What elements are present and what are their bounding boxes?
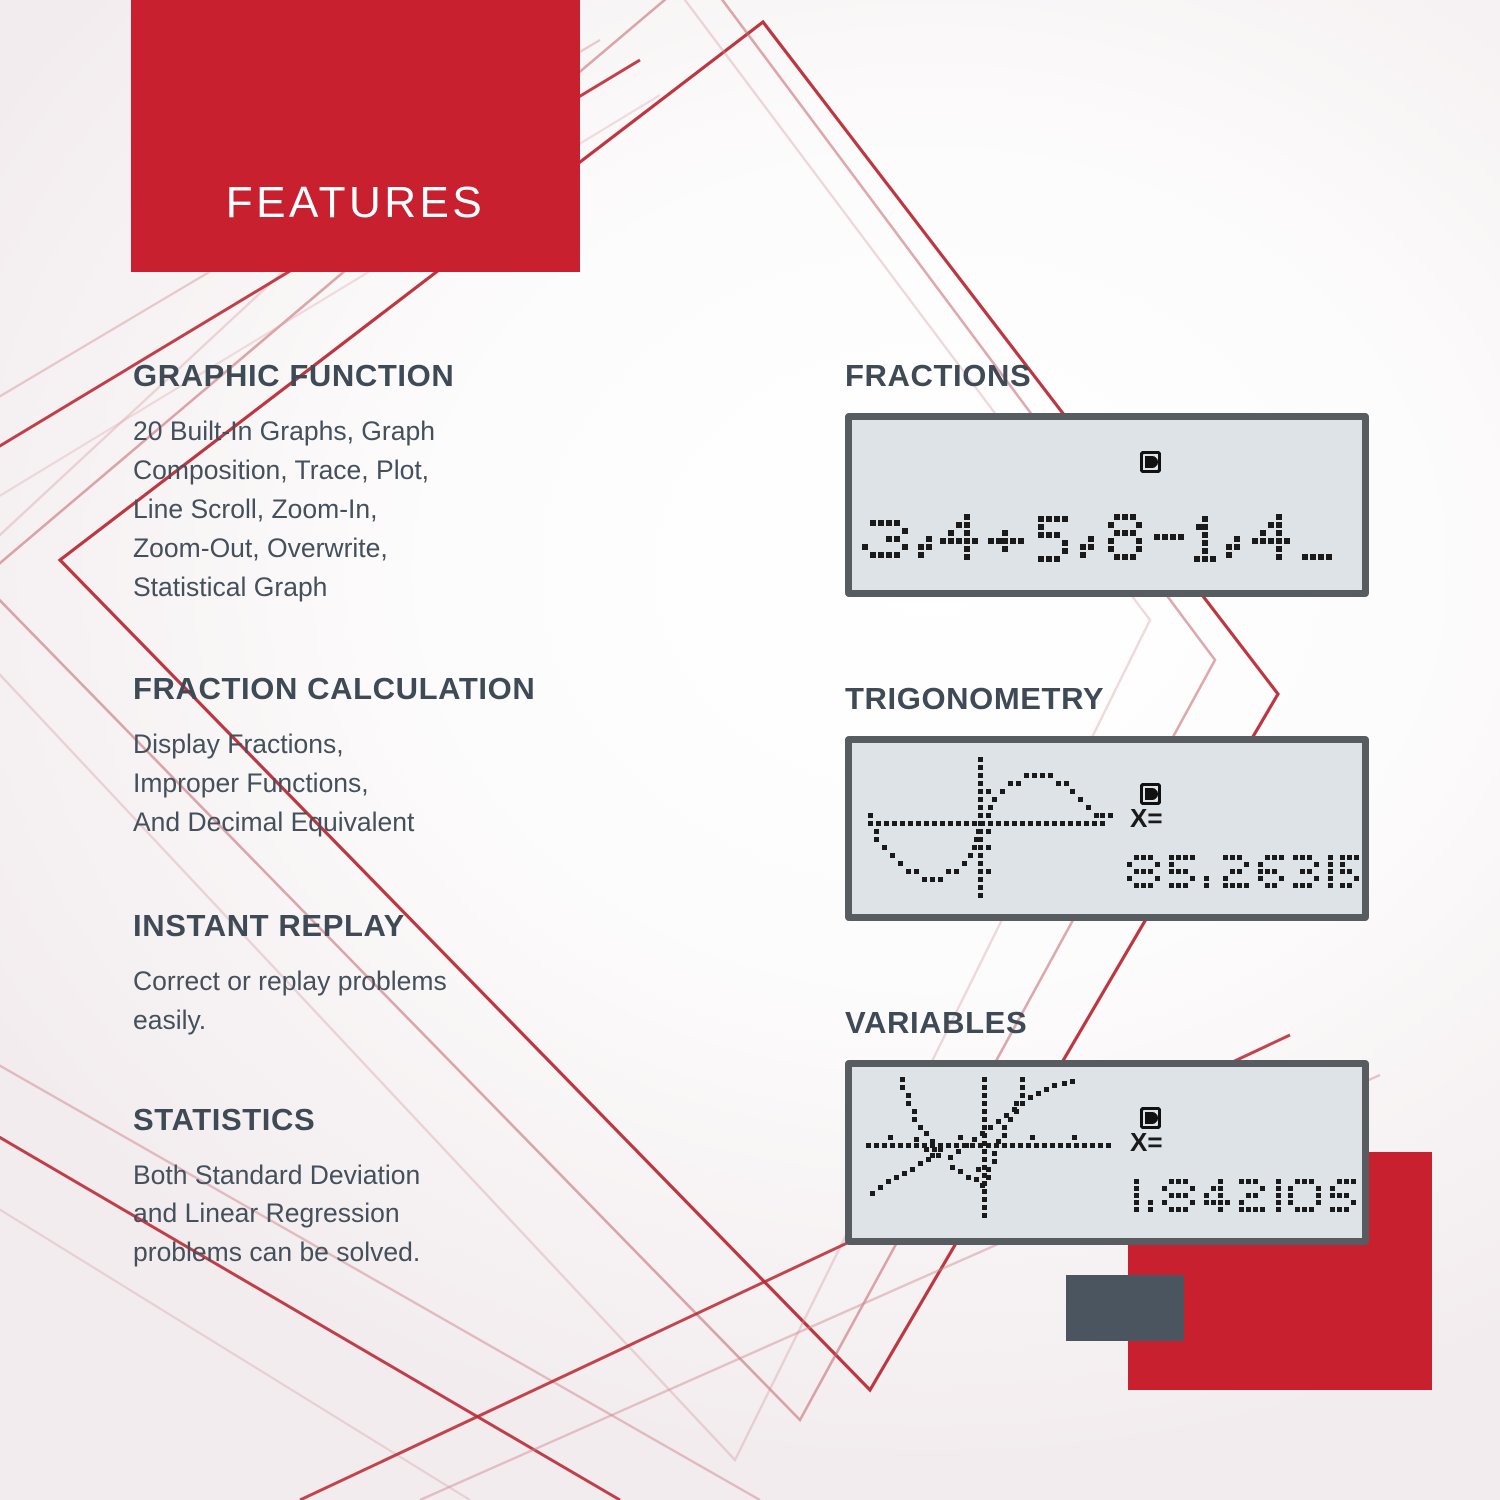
feature-body: Display Fractions, Improper Functions, A…: [133, 725, 733, 842]
features-header-block: FEATURES: [131, 0, 580, 272]
feature-instant-replay: INSTANT REPLAY Correct or replay problem…: [133, 908, 733, 1040]
calculator-screen-fractions: D 3⌀4+5⌀8-1⌀4_: [845, 413, 1369, 597]
deg-mode-indicator: [1140, 451, 1161, 473]
deg-mode-indicator: [1140, 1107, 1161, 1129]
lcd-value-dots: [1127, 855, 1359, 888]
deg-mode-indicator: [1140, 783, 1161, 805]
feature-heading: FRACTION CALCULATION: [133, 671, 733, 707]
feature-heading: INSTANT REPLAY: [133, 908, 733, 944]
lcd-trace-label: X=: [1130, 1127, 1163, 1157]
lcd-value-dots: [1134, 1179, 1356, 1212]
right-feature-column: FRACTIONS: [845, 358, 1375, 1291]
lcd-trace-label: X=: [1130, 803, 1163, 833]
feature-fraction-calculation: FRACTION CALCULATION Display Fractions, …: [133, 671, 733, 842]
feature-heading: TRIGONOMETRY: [845, 681, 1375, 717]
infographic-canvas: FEATURES GRAPHIC FUNCTION 20 Built-In Gr…: [0, 0, 1500, 1500]
feature-fractions: FRACTIONS: [845, 358, 1375, 597]
feature-heading: GRAPHIC FUNCTION: [133, 358, 733, 394]
feature-body: Correct or replay problems easily.: [133, 962, 733, 1040]
feature-trigonometry: TRIGONOMETRY: [845, 681, 1375, 921]
lcd-multiline-graph-dots: [866, 1077, 1111, 1218]
feature-statistics: STATISTICS Both Standard Deviation and L…: [133, 1102, 733, 1273]
page-title: FEATURES: [226, 178, 485, 228]
feature-body: Both Standard Deviation and Linear Regre…: [133, 1156, 733, 1273]
feature-heading: STATISTICS: [133, 1102, 733, 1138]
left-feature-column: GRAPHIC FUNCTION 20 Built-In Graphs, Gra…: [133, 358, 733, 1318]
feature-graphic-function: GRAPHIC FUNCTION 20 Built-In Graphs, Gra…: [133, 358, 733, 607]
feature-body: 20 Built-In Graphs, Graph Composition, T…: [133, 412, 733, 607]
feature-heading: FRACTIONS: [845, 358, 1375, 394]
lcd-expression-dots: [862, 514, 1332, 562]
calculator-screen-trigonometry: X=: [845, 736, 1369, 921]
lcd-sine-graph-dots: [868, 757, 1113, 898]
calculator-screen-variables: X=: [845, 1060, 1369, 1245]
feature-variables: VARIABLES: [845, 1005, 1375, 1245]
feature-heading: VARIABLES: [845, 1005, 1375, 1041]
